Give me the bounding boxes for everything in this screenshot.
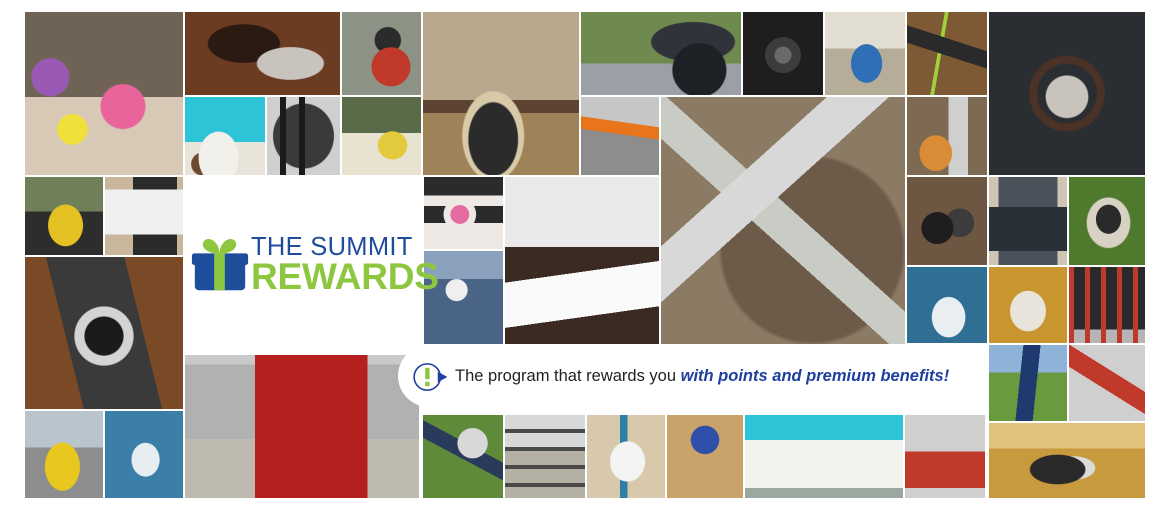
step-ladder-photo [505,415,585,498]
coffee-iced-tea-maker-photo [907,97,987,175]
red-suitcase-luggage-photo [185,343,419,498]
brand-wordmark: THE SUMMIT REWARDS [251,236,439,294]
sports-duffel-bag-photo-art [905,415,985,498]
dvd-collection-photo-art [185,12,340,95]
tagline-text: The program that rewards you with points… [455,367,949,386]
coffee-iced-tea-maker-photo-art [907,97,987,175]
poolside-sunglasses-photo [185,97,265,175]
step-ladder-photo-art [505,415,585,498]
jet-boat-photo-art [105,411,183,498]
garden-tool-set-photo [25,12,183,175]
tagline-banner-content: The program that rewards you with points… [404,348,980,405]
tool-case-photo-art [1069,267,1145,343]
garment-steamer-photo-art [587,415,665,498]
portable-generator-photo [25,177,103,255]
jet-boat-photo [105,411,183,498]
business-briefcase-photo-art [989,177,1067,265]
golf-bag-cart-photo [989,345,1067,421]
sony-usb-drive-photo [505,177,659,344]
studio-headphones-photo [907,177,987,265]
rewards-hero-banner: THE SUMMIT REWARDS The program that rewa… [0,0,1170,510]
business-briefcase-photo [989,177,1067,265]
motor-scooter-photo-art [581,12,741,95]
atv-quad-dunes-photo-art [989,423,1145,498]
pool-lounger-photo [745,415,903,498]
golf-bag-cart-photo-art [989,345,1067,421]
pool-lounger-photo-art [745,415,903,498]
travel-garment-bag-photo [267,97,340,175]
tool-case-photo [1069,267,1145,343]
luck-bracelet-photo-art [989,12,1145,175]
couch-roomba-vacuum-photo-art [423,12,579,175]
multitool-on-stump-photo-art [661,97,905,344]
sedan-car-photo [989,267,1067,343]
kayak-photo-art [581,97,659,175]
luck-bracelet-photo [989,12,1145,175]
golf-gps-device-photo-art [423,415,503,498]
pressure-washer-photo [342,97,421,175]
tagline-plain: The program that rewards you [455,367,681,385]
flashlight-photo [907,12,987,95]
camera-lens-photo [743,12,823,95]
electric-micro-car-photo-art [25,411,103,498]
dive-watch-photo-art [25,257,183,409]
garden-tool-set-photo-art [25,12,183,175]
garment-steamer-photo [587,415,665,498]
dive-watch-photo [25,257,183,409]
kayak-photo [581,97,659,175]
couch-roomba-vacuum-photo [423,12,579,175]
tablet-shopping-photo-art [105,177,183,255]
tagline-accent: with points and premium benefits! [681,367,950,385]
gift-box-icon [189,234,251,296]
pitching-machine-photo-art [667,415,743,498]
exclamation-circle-arrow-icon [408,356,450,398]
air-compressor-photo [342,12,421,95]
brand-lockup: THE SUMMIT REWARDS [189,234,439,296]
pressure-washer-photo-art [342,97,421,175]
product-collage [0,0,1170,510]
portable-generator-photo-art [25,177,103,255]
flashlight-photo-art [907,12,987,95]
red-multi-tool-case-photo [1069,345,1145,421]
multitool-on-stump-photo [661,97,905,344]
outdoor-fire-pit-photo [1069,177,1145,265]
dvd-collection-photo [185,12,340,95]
outdoor-fire-pit-photo-art [1069,177,1145,265]
pitching-machine-photo [667,415,743,498]
travel-garment-bag-photo-art [267,97,340,175]
atv-quad-dunes-photo [989,423,1145,498]
tablet-shopping-photo [105,177,183,255]
red-suitcase-luggage-photo-art [185,343,419,498]
jet-ski-riders-photo [907,267,987,343]
poolside-sunglasses-photo-art [185,97,265,175]
brand-line-two: REWARDS [251,260,439,294]
camera-lens-photo-art [743,12,823,95]
electric-cart-photo-art [825,12,905,95]
air-compressor-photo-art [342,12,421,95]
electric-cart-photo [825,12,905,95]
sedan-car-photo-art [989,267,1067,343]
golf-gps-device-photo [423,415,503,498]
sony-usb-drive-photo-art [505,177,659,344]
red-multi-tool-case-photo-art [1069,345,1145,421]
jet-ski-riders-photo-art [907,267,987,343]
sports-duffel-bag-photo [905,415,985,498]
electric-micro-car-photo [25,411,103,498]
motor-scooter-photo [581,12,741,95]
studio-headphones-photo-art [907,177,987,265]
logo-panel: THE SUMMIT REWARDS [183,175,424,355]
